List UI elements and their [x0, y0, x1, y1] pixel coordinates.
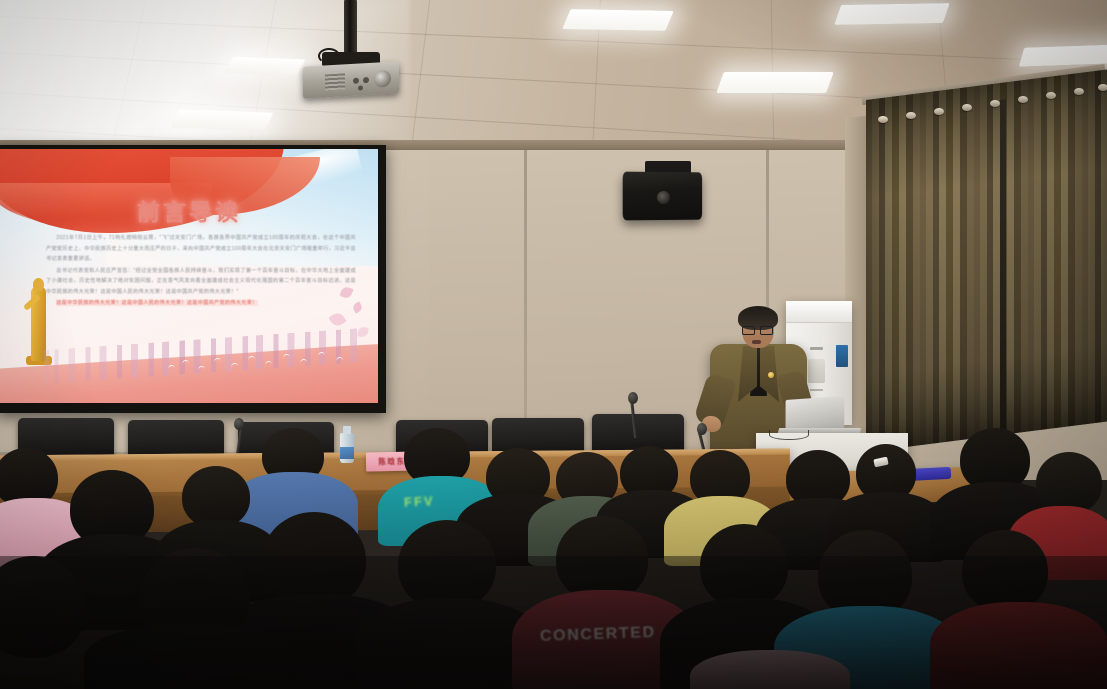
audience-head	[182, 466, 250, 528]
teal-jacket-text: FFV	[404, 493, 435, 510]
lecture-hall-photo: 前言导读 2021年7月1日上午，71响礼炮响彻云霄，"飞"过天安门广场，各族各…	[0, 0, 1107, 689]
foreground-shadow	[0, 556, 1107, 689]
audience-head	[1036, 452, 1102, 514]
